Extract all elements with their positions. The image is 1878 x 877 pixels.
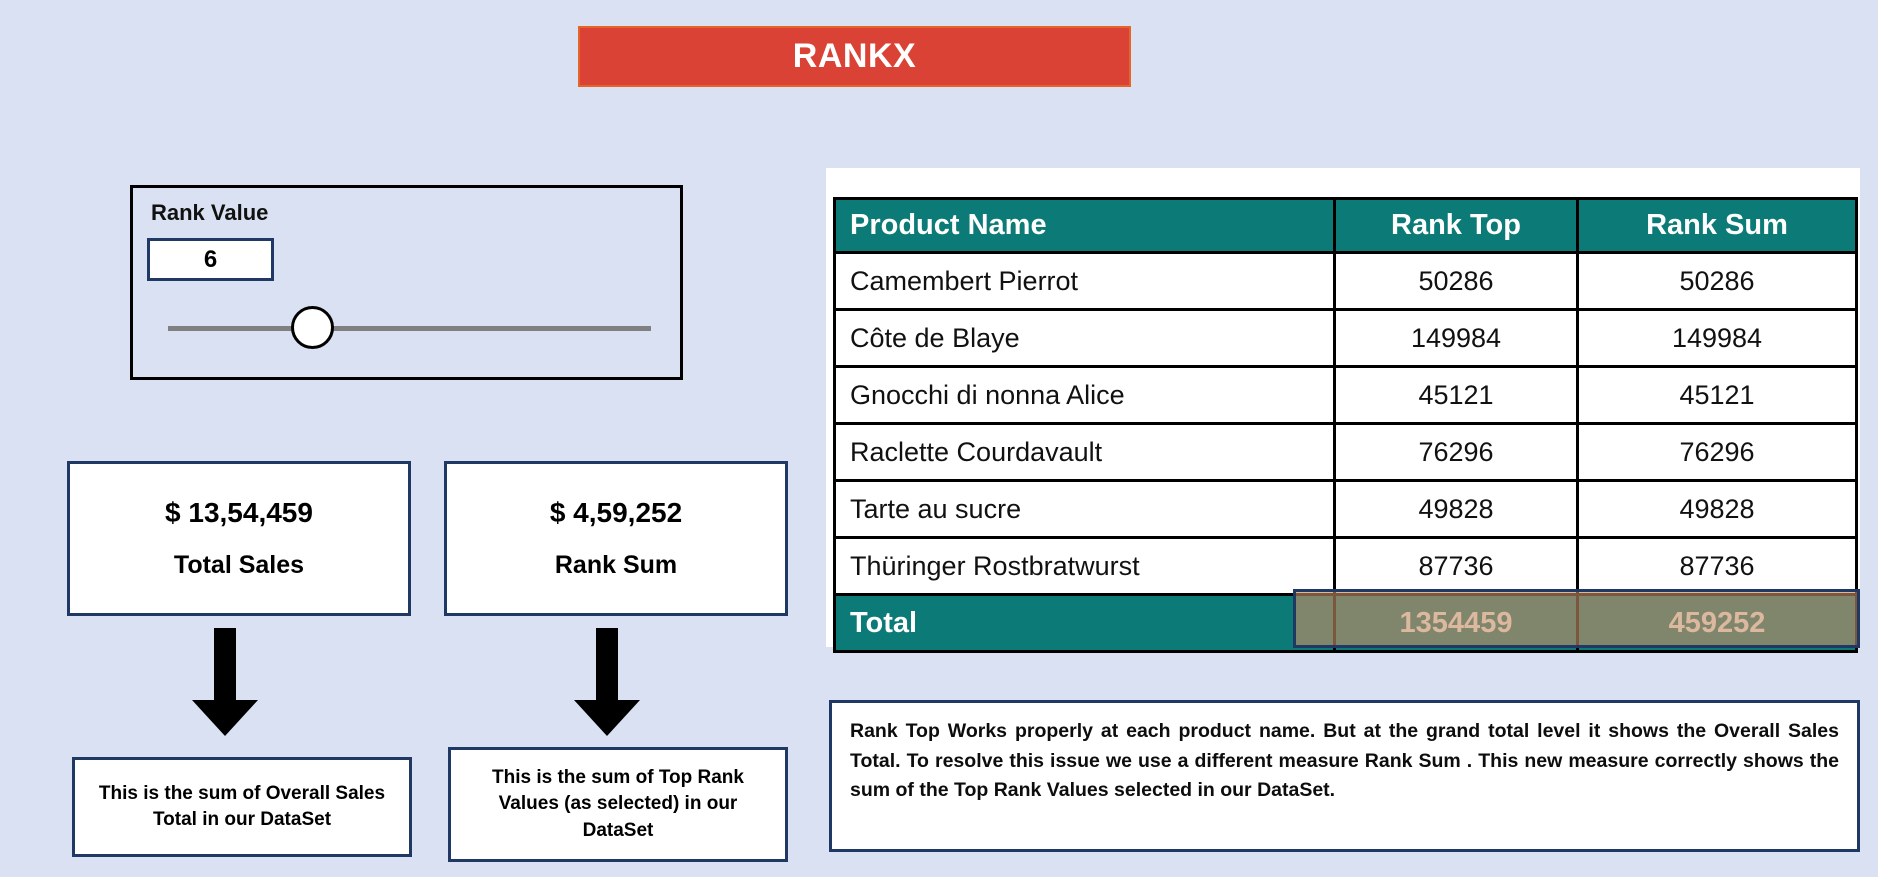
cell-product-name: Gnocchi di nonna Alice — [835, 367, 1335, 424]
page-title: RANKX — [793, 37, 916, 76]
rank-value-slicer[interactable]: Rank Value 6 — [130, 185, 683, 380]
column-header-rank-top[interactable]: Rank Top — [1335, 199, 1578, 253]
table-row[interactable]: Côte de Blaye 149984 149984 — [835, 310, 1857, 367]
cell-rank-top: 87736 — [1335, 538, 1578, 595]
cell-total-rank-sum: 459252 — [1578, 595, 1857, 652]
table-header-row: Product Name Rank Top Rank Sum — [835, 199, 1857, 253]
cell-rank-sum: 149984 — [1578, 310, 1857, 367]
table-row[interactable]: Thüringer Rostbratwurst 87736 87736 — [835, 538, 1857, 595]
annotation-rank-sum: This is the sum of Top Rank Values (as s… — [448, 747, 788, 862]
slider-track[interactable] — [168, 326, 651, 331]
table-row[interactable]: Tarte au sucre 49828 49828 — [835, 481, 1857, 538]
rank-value-slider[interactable] — [168, 298, 651, 358]
report-title-banner: RANKX — [578, 26, 1131, 87]
column-header-product-name[interactable]: Product Name — [835, 199, 1335, 253]
cell-rank-sum: 49828 — [1578, 481, 1857, 538]
report-canvas: RANKX Rank Value 6 $ 13,54,459 Total Sal… — [0, 0, 1878, 877]
kpi-card-total-sales: $ 13,54,459 Total Sales — [67, 461, 411, 616]
explanation-note: Rank Top Works properly at each product … — [829, 700, 1860, 852]
slicer-label: Rank Value — [151, 200, 268, 226]
cell-product-name: Camembert Pierrot — [835, 253, 1335, 310]
cell-rank-top: 45121 — [1335, 367, 1578, 424]
rank-value-input[interactable]: 6 — [147, 238, 274, 281]
cell-rank-sum: 76296 — [1578, 424, 1857, 481]
table-row[interactable]: Gnocchi di nonna Alice 45121 45121 — [835, 367, 1857, 424]
table-row[interactable]: Camembert Pierrot 50286 50286 — [835, 253, 1857, 310]
down-arrow-icon — [190, 628, 260, 743]
table-row[interactable]: Raclette Courdavault 76296 76296 — [835, 424, 1857, 481]
rankx-matrix-table[interactable]: Product Name Rank Top Rank Sum Camembert… — [833, 197, 1858, 653]
annotation-total-sales: This is the sum of Overall Sales Total i… — [72, 757, 412, 857]
cell-rank-top: 49828 — [1335, 481, 1578, 538]
cell-total-rank-top: 1354459 — [1335, 595, 1578, 652]
cell-rank-top: 76296 — [1335, 424, 1578, 481]
cell-rank-sum: 45121 — [1578, 367, 1857, 424]
kpi-label: Rank Sum — [555, 551, 677, 580]
cell-rank-top: 149984 — [1335, 310, 1578, 367]
table-total-row[interactable]: Total 1354459 459252 — [835, 595, 1857, 652]
down-arrow-icon — [572, 628, 642, 743]
kpi-value: $ 13,54,459 — [165, 497, 313, 529]
cell-total-label: Total — [835, 595, 1335, 652]
kpi-value: $ 4,59,252 — [550, 497, 682, 529]
cell-rank-sum: 50286 — [1578, 253, 1857, 310]
kpi-label: Total Sales — [174, 551, 304, 580]
column-header-rank-sum[interactable]: Rank Sum — [1578, 199, 1857, 253]
cell-product-name: Thüringer Rostbratwurst — [835, 538, 1335, 595]
cell-product-name: Tarte au sucre — [835, 481, 1335, 538]
cell-product-name: Raclette Courdavault — [835, 424, 1335, 481]
kpi-card-rank-sum: $ 4,59,252 Rank Sum — [444, 461, 788, 616]
cell-product-name: Côte de Blaye — [835, 310, 1335, 367]
slider-handle[interactable] — [291, 306, 334, 349]
cell-rank-sum: 87736 — [1578, 538, 1857, 595]
cell-rank-top: 50286 — [1335, 253, 1578, 310]
